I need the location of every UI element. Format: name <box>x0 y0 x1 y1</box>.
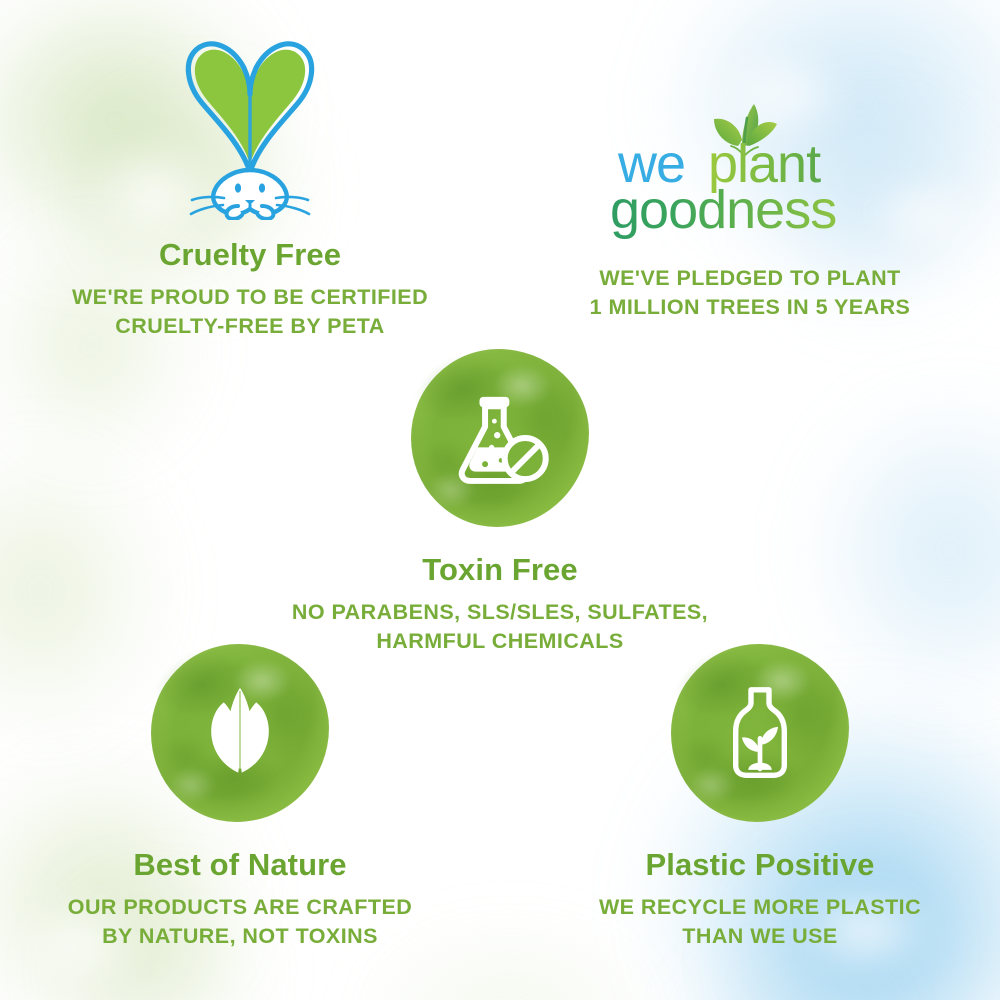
best-of-nature-disc <box>147 640 333 826</box>
badge-best-of-nature: Best of Nature OUR PRODUCTS ARE CRAFTED … <box>20 640 460 950</box>
badge-subtitle: WE'VE PLEDGED TO PLANT 1 MILLION TREES I… <box>530 264 970 321</box>
badge-we-plant-goodness: we plant goodness WE'VE PLEDGED TO PLANT… <box>530 100 970 321</box>
badge-plastic-positive: Plastic Positive WE RECYCLE MORE PLASTIC… <box>540 640 980 950</box>
svg-text:goodness: goodness <box>610 180 836 240</box>
toxin-free-disc <box>407 345 593 531</box>
peta-bunny-heart-ears-icon <box>150 20 350 220</box>
badge-toxin-free: Toxin Free No PARABENS, SLS/SLES, SULFAT… <box>280 345 720 655</box>
badge-subtitle: WE RECYCLE MORE PLASTIC THAN WE USE <box>540 893 980 950</box>
badge-title: Toxin Free <box>280 553 720 587</box>
badge-subtitle: WE'RE PROUD TO BE CERTIFIED CRUELTY-FREE… <box>30 283 470 340</box>
three-leaves-icon <box>147 640 333 826</box>
bottle-sprout-icon <box>667 640 853 826</box>
badge-subtitle: OUR PRODUCTS ARE CRAFTED BY NATURE, NOT … <box>20 893 460 950</box>
badge-title: Plastic Positive <box>540 848 980 882</box>
we-plant-goodness-logo: we plant goodness <box>600 100 900 240</box>
plastic-positive-disc <box>667 640 853 826</box>
badge-cruelty-free: Cruelty Free WE'RE PROUD TO BE CERTIFIED… <box>30 20 470 340</box>
badge-title: Cruelty Free <box>30 238 470 272</box>
badge-title: Best of Nature <box>20 848 460 882</box>
flask-no-entry-icon <box>407 345 593 531</box>
eco-claims-poster: Cruelty Free WE'RE PROUD TO BE CERTIFIED… <box>0 0 1000 1000</box>
